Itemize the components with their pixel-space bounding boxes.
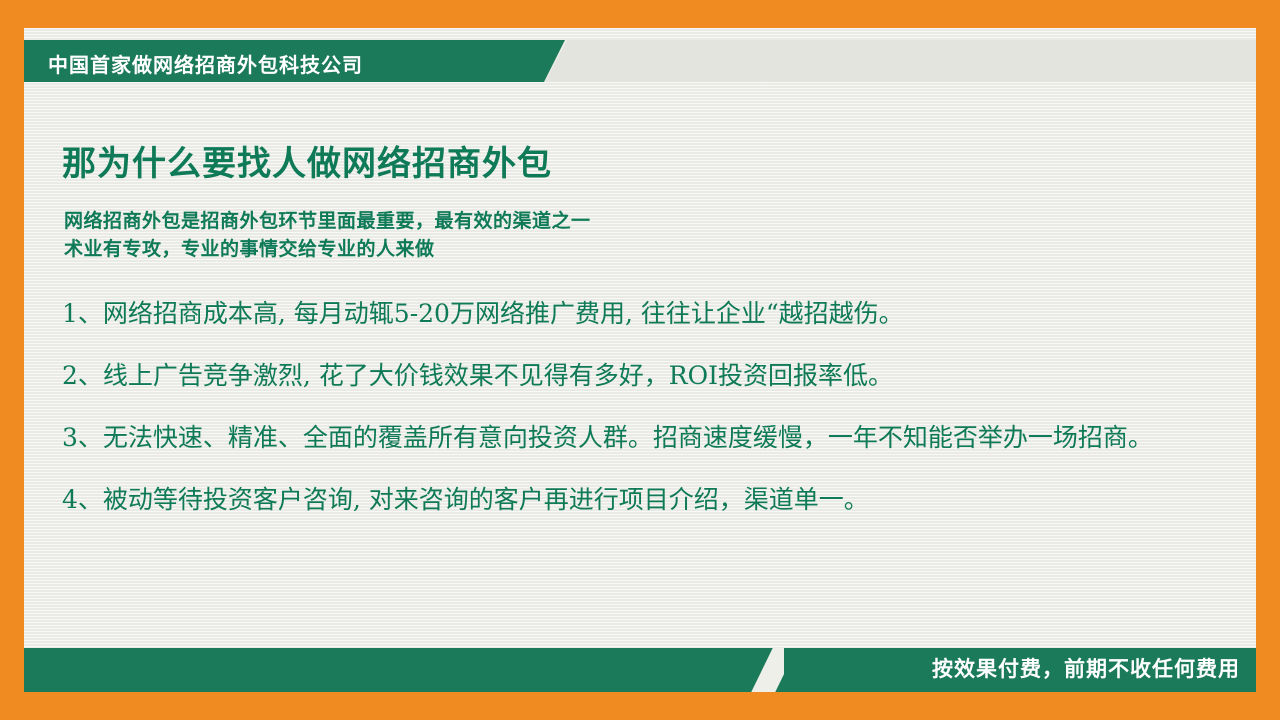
subheading-line-1: 网络招商外包是招商外包环节里面最重要，最有效的渠道之一 — [64, 208, 591, 236]
list-item: 2、线上广告竞争激烈, 花了大价钱效果不见得有多好，ROI投资回报率低。 — [62, 357, 1192, 395]
top-banner: 中国首家做网络招商外包科技公司 — [24, 40, 544, 82]
footer-bar-left — [24, 648, 784, 692]
list-item: 4、被动等待投资客户咨询, 对来咨询的客户再进行项目介绍，渠道单一。 — [62, 481, 1192, 519]
page-title: 那为什么要找人做网络招商外包 — [62, 136, 552, 185]
footer-text: 按效果付费，前期不收任何费用 — [932, 653, 1240, 683]
slide-root: 中国首家做网络招商外包科技公司 那为什么要找人做网络招商外包 网络招商外包是招商… — [0, 0, 1280, 720]
top-strip-decoration — [545, 40, 1256, 82]
top-banner-text: 中国首家做网络招商外包科技公司 — [48, 49, 363, 78]
subheading-block: 网络招商外包是招商外包环节里面最重要，最有效的渠道之一 术业有专攻，专业的事情交… — [64, 208, 591, 264]
body-list: 1、网络招商成本高, 每月动辄5-20万网络推广费用, 往往让企业“越招越伤。 … — [62, 295, 1192, 543]
subheading-line-2: 术业有专攻，专业的事情交给专业的人来做 — [64, 236, 591, 264]
list-item: 1、网络招商成本高, 每月动辄5-20万网络推广费用, 往往让企业“越招越伤。 — [62, 295, 1192, 333]
list-item: 3、无法快速、精准、全面的覆盖所有意向投资人群。招商速度缓慢，一年不知能否举办一… — [62, 419, 1192, 457]
